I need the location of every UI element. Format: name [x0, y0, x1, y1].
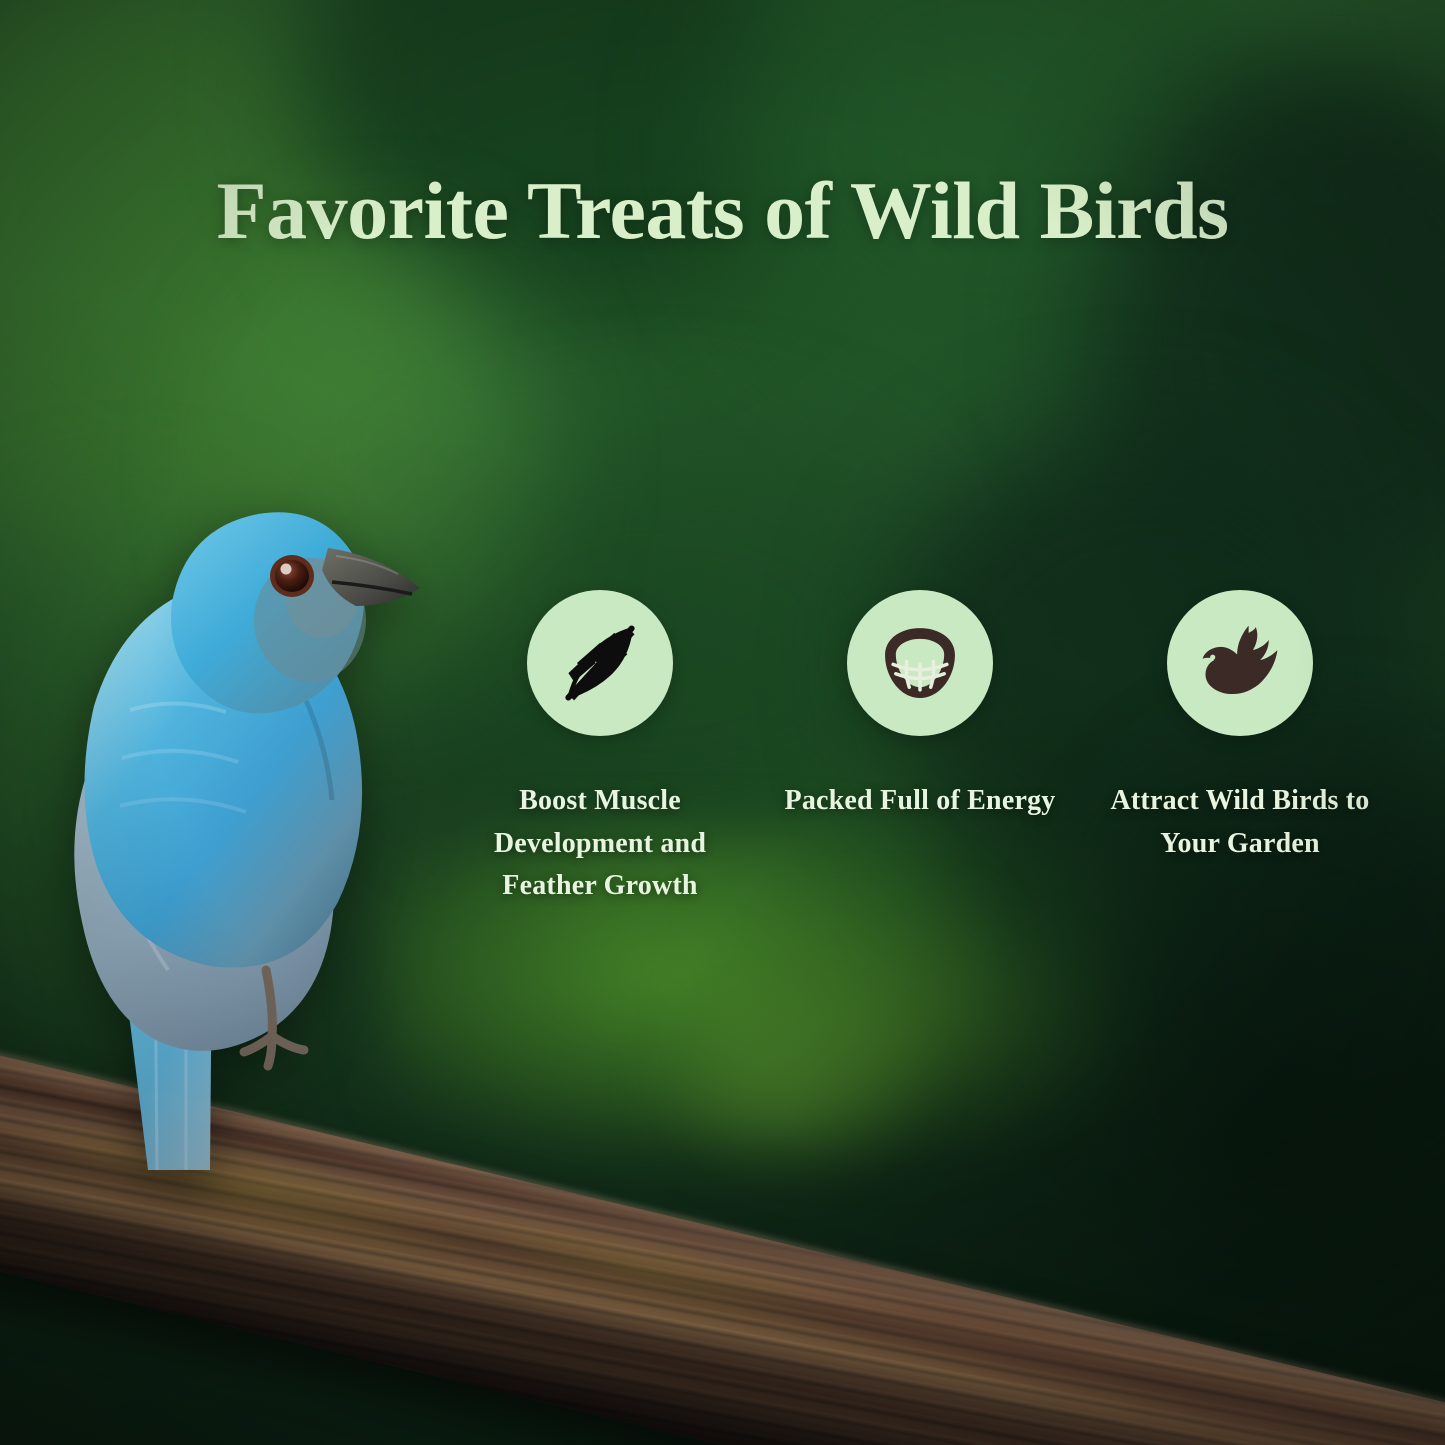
product-feature-poster: Favorite Treats of Wild Birds — [0, 0, 1445, 1445]
vignette-overlay — [0, 0, 1445, 1445]
